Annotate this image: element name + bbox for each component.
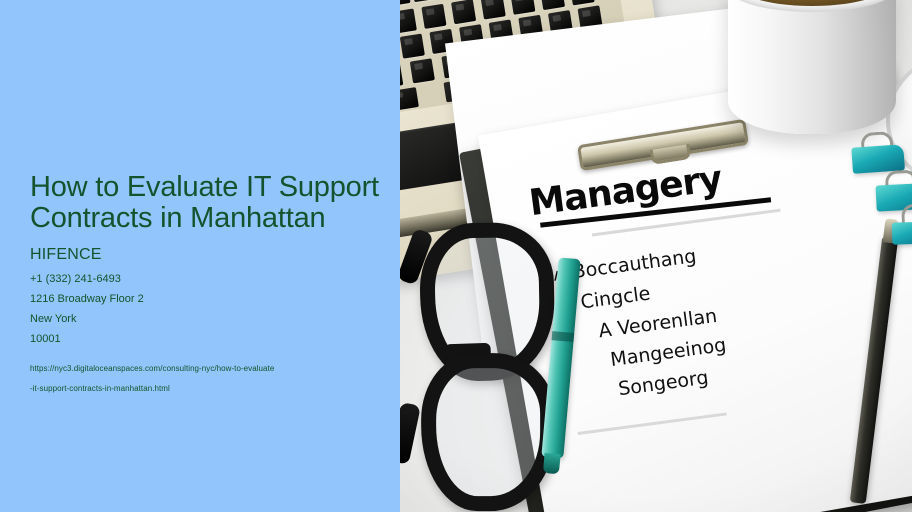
keyboard-key bbox=[510, 0, 535, 15]
hero-photo: Managery ʌBoccauthang6CingcleA Veorenlla… bbox=[400, 0, 912, 512]
contact-address-zip: 10001 bbox=[30, 329, 380, 349]
checklist-item-label: Cingcle bbox=[579, 282, 651, 313]
source-url-line-1[interactable]: https://nyc3.digitaloceanspaces.com/cons… bbox=[30, 359, 380, 379]
keyboard-key bbox=[411, 0, 436, 2]
coffee-cup-icon bbox=[728, 0, 896, 136]
keyboard-key bbox=[400, 0, 411, 6]
binder-clip-1-icon bbox=[851, 140, 905, 174]
contact-address-city: New York bbox=[30, 309, 380, 329]
keyboard-key bbox=[570, 0, 595, 5]
keyboard-key bbox=[400, 8, 417, 33]
text-block: How to Evaluate IT Support Contracts in … bbox=[30, 172, 380, 399]
keyboard-key bbox=[400, 87, 419, 111]
source-url[interactable]: https://nyc3.digitaloceanspaces.com/cons… bbox=[30, 359, 380, 399]
page-title: How to Evaluate IT Support Contracts in … bbox=[30, 172, 380, 234]
eyeglasses-temple-bottom bbox=[400, 402, 421, 465]
checklist-bullet bbox=[591, 366, 611, 369]
binder-clip-3-icon bbox=[891, 213, 912, 245]
keyboard-key bbox=[421, 4, 446, 29]
checklist-bullet bbox=[580, 337, 600, 340]
keyboard-key bbox=[410, 58, 435, 83]
keyboard-key bbox=[400, 34, 425, 59]
keyboard-key bbox=[451, 0, 476, 24]
brand-name: HIFENCE bbox=[30, 245, 380, 264]
keyboard-key bbox=[400, 63, 403, 88]
contact-phone[interactable]: +1 (332) 241-6493 bbox=[30, 269, 380, 289]
keyboard-key bbox=[540, 0, 565, 10]
left-text-panel: How to Evaluate IT Support Contracts in … bbox=[0, 0, 400, 512]
eyeglasses-icon bbox=[404, 218, 543, 506]
checklist-bullet bbox=[599, 395, 619, 398]
source-url-line-2[interactable]: -it-support-contracts-in-manhattan.html bbox=[30, 379, 380, 399]
checklist-items: ʌBoccauthang6CingcleA VeorenllanMangeein… bbox=[529, 216, 906, 414]
contact-address-street: 1216 Broadway Floor 2 bbox=[30, 289, 380, 309]
checklist-item-label: Songeorg bbox=[617, 367, 710, 401]
promo-banner: How to Evaluate IT Support Contracts in … bbox=[0, 0, 912, 512]
eyeglasses-lens-bottom bbox=[421, 353, 555, 511]
keyboard-key bbox=[481, 0, 506, 20]
